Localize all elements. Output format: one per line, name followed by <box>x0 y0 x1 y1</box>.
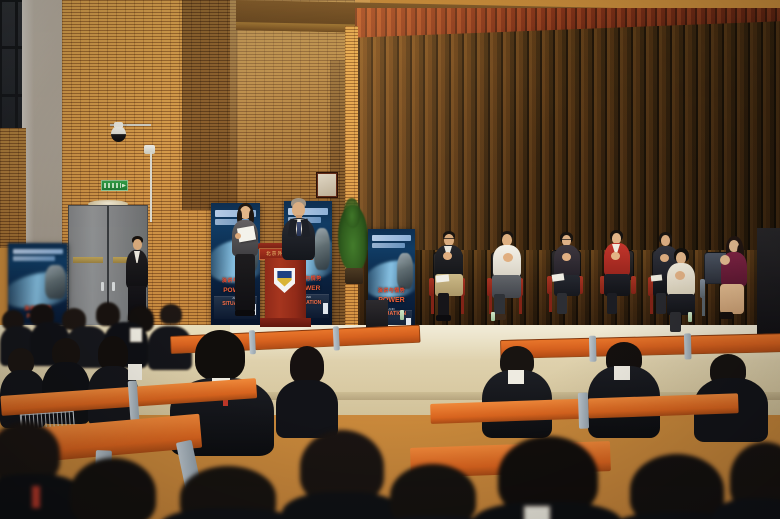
vignette <box>0 0 780 519</box>
auditorium-photo: 演讲与情势 POWER AND SITUATION 演讲与情势 POWER AN… <box>0 0 780 519</box>
